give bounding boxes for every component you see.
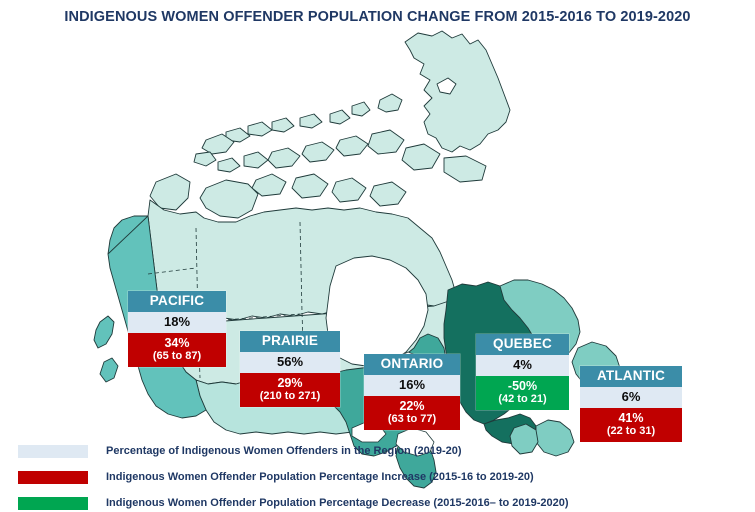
region-share-quebec: 4% — [476, 355, 569, 376]
region-change-ontario: 22% (63 to 77) — [364, 396, 460, 430]
region-name-ontario: ONTARIO — [364, 354, 460, 375]
region-share-prairie: 56% — [240, 352, 340, 373]
region-change-prairie: 29% (210 to 271) — [240, 373, 340, 407]
region-change-pacific: 34% (65 to 87) — [128, 333, 226, 367]
region-share-atlantic: 6% — [580, 387, 682, 408]
map-island-haida-gwaii — [100, 358, 118, 382]
region-share-ontario: 16% — [364, 375, 460, 396]
legend-label-share: Percentage of Indigenous Women Offenders… — [106, 445, 462, 457]
region-change-value-ontario: 22% — [364, 399, 460, 413]
region-name-quebec: QUEBEC — [476, 334, 569, 355]
region-range-ontario: (63 to 77) — [364, 413, 460, 425]
map-region-north — [144, 31, 510, 324]
legend-swatch-increase — [18, 471, 88, 484]
region-name-atlantic: ATLANTIC — [580, 366, 682, 387]
region-callout-atlantic[interactable]: ATLANTIC 6% 41% (22 to 31) — [580, 366, 682, 442]
region-name-pacific: PACIFIC — [128, 291, 226, 312]
legend-item-share: Percentage of Indigenous Women Offenders… — [18, 440, 718, 462]
legend: Percentage of Indigenous Women Offenders… — [18, 440, 718, 512]
region-change-atlantic: 41% (22 to 31) — [580, 408, 682, 442]
legend-swatch-share — [18, 445, 88, 458]
legend-swatch-decrease — [18, 497, 88, 510]
region-callout-prairie[interactable]: PRAIRIE 56% 29% (210 to 271) — [240, 331, 340, 407]
region-change-value-prairie: 29% — [240, 376, 340, 390]
region-range-prairie: (210 to 271) — [240, 390, 340, 402]
infographic-canvas: INDIGENOUS WOMEN OFFENDER POPULATION CHA… — [0, 0, 755, 512]
region-range-quebec: (42 to 21) — [476, 393, 569, 405]
legend-label-decrease: Indigenous Women Offender Population Per… — [106, 497, 569, 509]
region-name-prairie: PRAIRIE — [240, 331, 340, 352]
region-change-value-quebec: -50% — [476, 379, 569, 393]
region-change-value-atlantic: 41% — [580, 411, 682, 425]
region-change-quebec: -50% (42 to 21) — [476, 376, 569, 410]
legend-item-increase: Indigenous Women Offender Population Per… — [18, 466, 718, 488]
region-callout-pacific[interactable]: PACIFIC 18% 34% (65 to 87) — [128, 291, 226, 367]
map-island-vancouver — [94, 316, 114, 348]
region-change-value-pacific: 34% — [128, 336, 226, 350]
region-share-pacific: 18% — [128, 312, 226, 333]
region-range-atlantic: (22 to 31) — [580, 425, 682, 437]
legend-label-increase: Indigenous Women Offender Population Per… — [106, 471, 534, 483]
region-callout-ontario[interactable]: ONTARIO 16% 22% (63 to 77) — [364, 354, 460, 430]
region-range-pacific: (65 to 87) — [128, 350, 226, 362]
region-callout-quebec[interactable]: QUEBEC 4% -50% (42 to 21) — [476, 334, 569, 410]
legend-item-decrease: Indigenous Women Offender Population Per… — [18, 492, 718, 512]
